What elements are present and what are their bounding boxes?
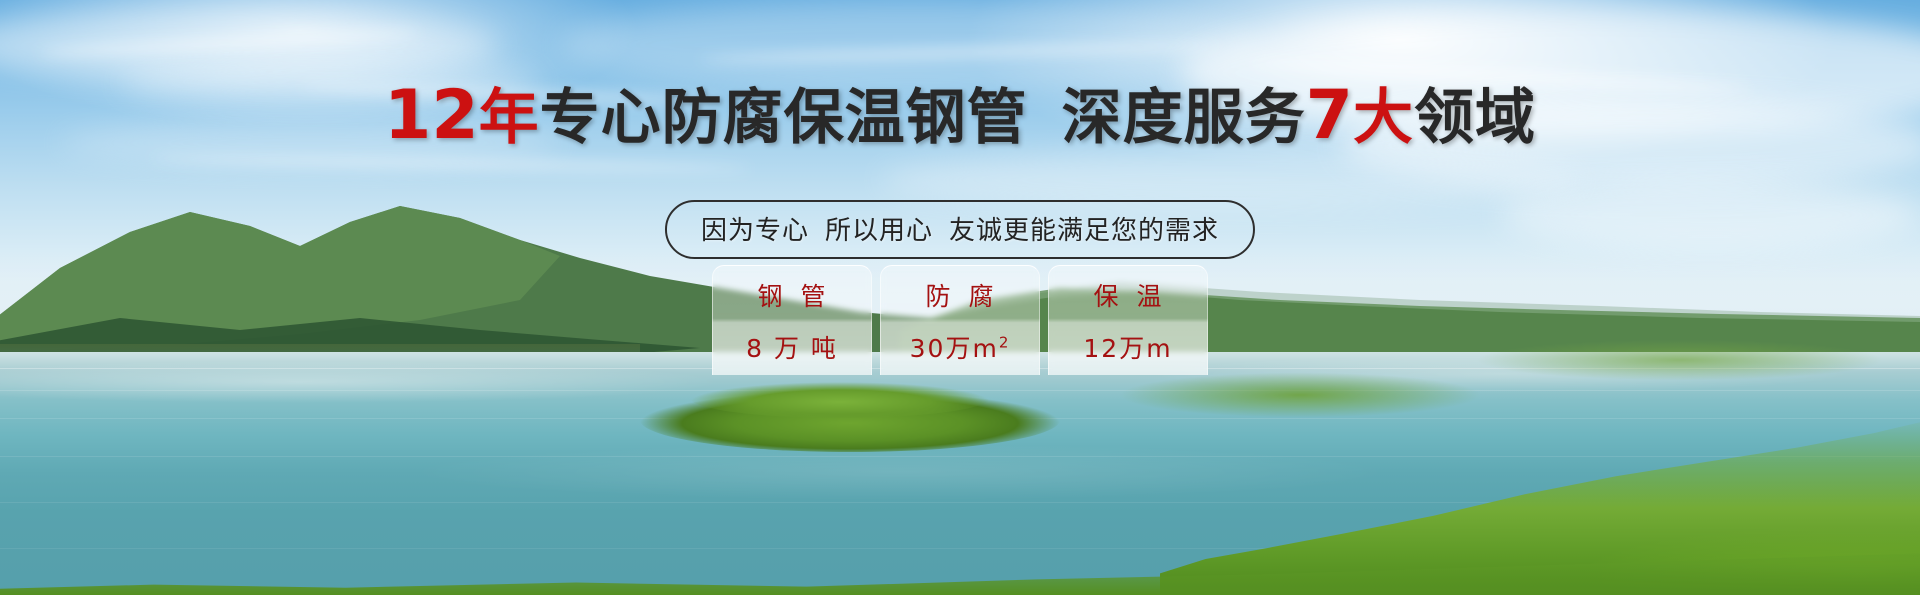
tagline-pill: 因为专心所以用心友诚更能满足您的需求 bbox=[665, 200, 1255, 259]
stat-card-insulation: 保 温 12万m bbox=[1048, 265, 1208, 375]
headline-fields-unit: 大 bbox=[1353, 83, 1414, 153]
hero-banner: 12年专心防腐保温钢管深度服务7大领域 因为专心所以用心友诚更能满足您的需求 钢… bbox=[0, 0, 1920, 595]
banner-content: 12年专心防腐保温钢管深度服务7大领域 因为专心所以用心友诚更能满足您的需求 钢… bbox=[0, 0, 1920, 595]
headline-service-text: 深度服务 bbox=[1062, 83, 1306, 153]
tagline-segment-1: 因为专心 bbox=[701, 216, 809, 246]
headline-years-unit: 年 bbox=[479, 83, 540, 153]
stat-card-steel-pipe: 钢 管 8 万 吨 bbox=[712, 265, 872, 375]
stat-label: 钢 管 bbox=[758, 277, 831, 313]
headline-years-number: 12 bbox=[384, 76, 479, 155]
headline-fields-number: 7 bbox=[1306, 76, 1353, 155]
stat-value: 8 万 吨 bbox=[746, 329, 838, 365]
headline: 12年专心防腐保温钢管深度服务7大领域 bbox=[0, 82, 1920, 150]
headline-main-text: 专心防腐保温钢管 bbox=[540, 83, 1028, 153]
stats-group: 钢 管 8 万 吨 防 腐 30万m2 保 温 12万m bbox=[712, 265, 1208, 375]
stat-value-superscript: 2 bbox=[999, 333, 1011, 351]
headline-fields-text: 领域 bbox=[1414, 83, 1536, 153]
stat-label: 保 温 bbox=[1094, 277, 1167, 313]
tagline-segment-2: 所以用心 bbox=[825, 216, 933, 246]
stat-value: 30万m2 bbox=[910, 329, 1011, 365]
stat-card-anticorrosion: 防 腐 30万m2 bbox=[880, 265, 1040, 375]
stat-label: 防 腐 bbox=[926, 277, 999, 313]
stat-value: 12万m bbox=[1083, 329, 1172, 365]
tagline-segment-3: 友诚更能满足您的需求 bbox=[949, 216, 1219, 246]
